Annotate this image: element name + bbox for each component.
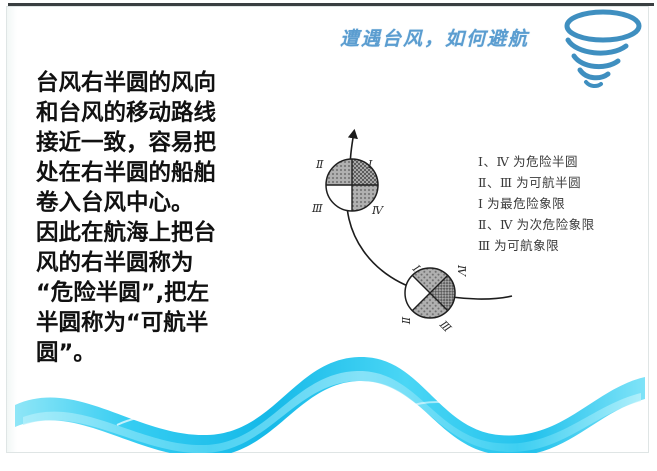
quadrant-label-lower-II: Ⅱ bbox=[399, 317, 412, 324]
body-line: 风的右半圆称为 bbox=[36, 248, 296, 278]
body-line: 接近一致，容易把 bbox=[36, 128, 296, 158]
tornado-icon bbox=[556, 6, 648, 95]
legend-item: Ⅰ 为最危险象限 bbox=[478, 194, 595, 215]
legend-item: Ⅱ、Ⅳ 为次危险象限 bbox=[478, 215, 595, 236]
body-line: 台风右半圆的风向 bbox=[36, 68, 296, 98]
quadrant-label-upper-II: Ⅱ bbox=[316, 158, 323, 171]
slide-canvas: 遭遇台风，如何避航 台风右半圆的风向 和台风的移动路线 接近一致，容易把 处在右… bbox=[0, 0, 657, 471]
quadrant-label-upper-IV: Ⅳ bbox=[372, 204, 383, 217]
wave-decoration bbox=[7, 343, 650, 453]
bottom-watermark bbox=[0, 455, 657, 471]
body-line: 因此在航海上把台 bbox=[36, 218, 296, 248]
body-line: 处在右半圆的船舶 bbox=[36, 158, 296, 188]
body-paragraph: 台风右半圆的风向 和台风的移动路线 接近一致，容易把 处在右半圆的船舶 卷入台风… bbox=[36, 68, 296, 368]
page-title: 遭遇台风，如何避航 bbox=[340, 24, 529, 51]
legend: Ⅰ、Ⅳ 为危险半圆 Ⅱ、Ⅲ 为可航半圆 Ⅰ 为最危险象限 Ⅱ、Ⅳ 为次危险象限 … bbox=[478, 152, 595, 257]
quadrant-label-upper-III: Ⅲ bbox=[312, 202, 323, 215]
quadrant-label-upper-I: Ⅰ bbox=[368, 158, 372, 171]
body-line: 卷入台风中心。 bbox=[36, 188, 296, 218]
body-line: 半圆称为“可航半 bbox=[36, 308, 296, 338]
body-line: “危险半圆”,把左 bbox=[36, 278, 296, 308]
legend-item: Ⅲ 为可航象限 bbox=[478, 236, 595, 257]
legend-item: Ⅱ、Ⅲ 为可航半圆 bbox=[478, 173, 595, 194]
legend-item: Ⅰ、Ⅳ 为危险半圆 bbox=[478, 152, 595, 173]
body-line: 和台风的移动路线 bbox=[36, 98, 296, 128]
quadrant-label-lower-IV: Ⅳ bbox=[455, 265, 468, 276]
